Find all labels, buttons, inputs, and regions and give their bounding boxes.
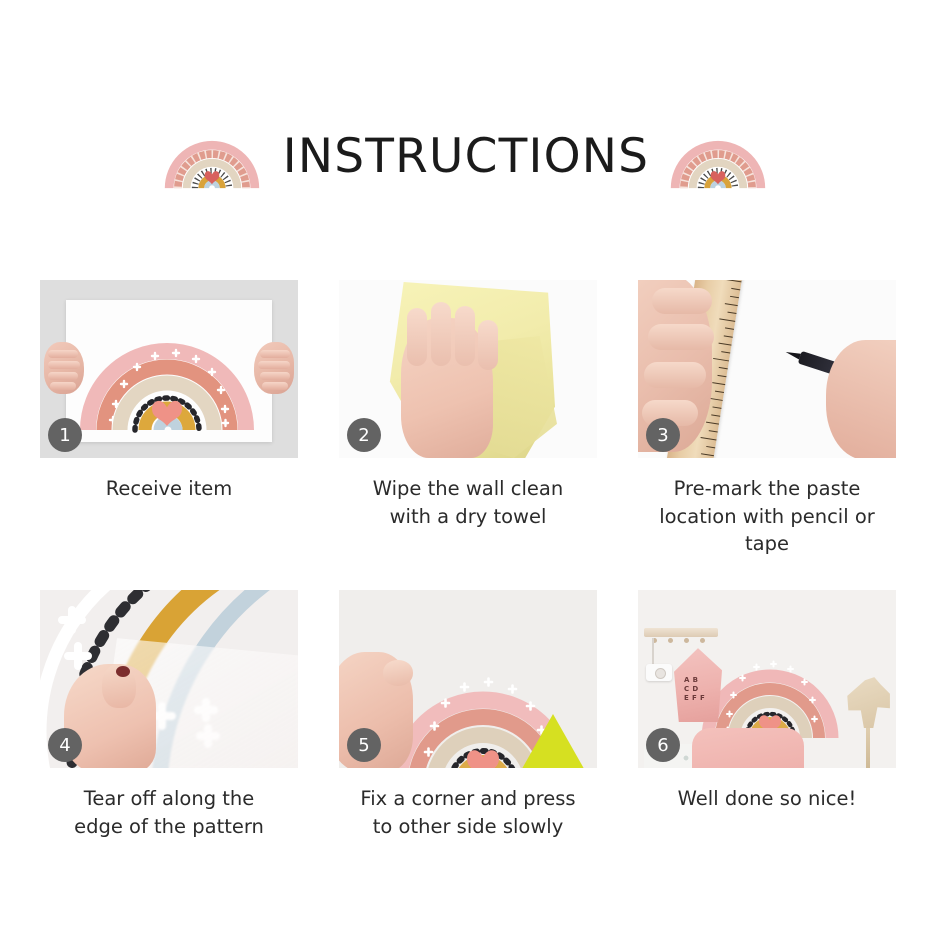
poster-sheet (66, 300, 272, 442)
bag-letters: A B C D E F F (684, 676, 718, 702)
finger (407, 308, 427, 366)
step-image-1: 1 (40, 280, 298, 458)
squeegee-tool (519, 714, 587, 768)
hand-right (254, 342, 294, 394)
step-badge-4: 4 (48, 728, 82, 762)
rainbow-icon-left (163, 120, 261, 192)
finger (652, 288, 712, 314)
finger (455, 306, 475, 366)
finger (431, 302, 451, 366)
camera-strap (652, 638, 654, 666)
finger (478, 320, 498, 370)
fingernail (116, 666, 130, 677)
rainbow-icon-right (669, 120, 767, 192)
thumb (383, 660, 413, 686)
step-card-2: 2 Wipe the wall clean with a dry towel (339, 280, 597, 558)
step-image-4: 4 (40, 590, 298, 768)
page-title: INSTRUCTIONS (261, 133, 669, 180)
step-image-5: 5 (339, 590, 597, 768)
step-caption-6: Well done so nice! (638, 785, 896, 813)
step-card-6: A B C D E F F 6 Well done so nice! (638, 590, 896, 840)
step-caption-4: Tear off along the edge of the pattern (40, 785, 298, 840)
step-caption-3: Pre-mark the paste location with pencil … (638, 475, 896, 558)
peg (668, 638, 673, 643)
step-card-4: 4 Tear off along the edge of the pattern (40, 590, 298, 840)
step-image-2: 2 (339, 280, 597, 458)
steps-grid: 1 Receive item 2 Wipe the wall clean wit… (40, 280, 896, 840)
step-badge-6: 6 (646, 728, 680, 762)
step-caption-1: Receive item (40, 475, 298, 503)
step-caption-2: Wipe the wall clean with a dry towel (339, 475, 597, 530)
step-badge-1: 1 (48, 418, 82, 452)
step-card-1: 1 Receive item (40, 280, 298, 558)
pink-pillow (692, 728, 804, 768)
step-badge-5: 5 (347, 728, 381, 762)
step-caption-5: Fix a corner and press to other side slo… (339, 785, 597, 840)
wall-peg-rail (644, 628, 718, 637)
step-image-3: 3 (638, 280, 896, 458)
peg (684, 638, 689, 643)
step-image-6: A B C D E F F 6 (638, 590, 896, 768)
finger (648, 324, 714, 350)
page-header: INSTRUCTIONS (0, 108, 930, 204)
hand-holding-pen (826, 340, 896, 458)
step-card-3: 3 Pre-mark the paste location with penci… (638, 280, 896, 558)
step-badge-3: 3 (646, 418, 680, 452)
step-badge-2: 2 (347, 418, 381, 452)
hand-left (44, 342, 84, 394)
toy-camera (646, 664, 672, 681)
finger (644, 362, 706, 388)
step-card-5: 5 Fix a corner and press to other side s… (339, 590, 597, 840)
